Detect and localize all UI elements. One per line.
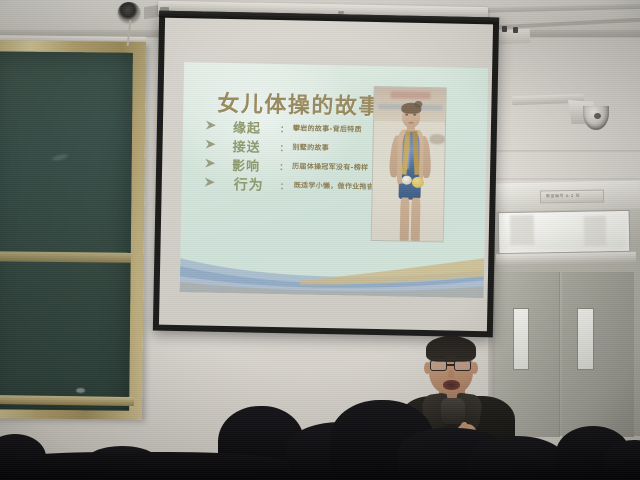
chalkboard-divider bbox=[0, 251, 131, 263]
bracket-bolt bbox=[513, 27, 518, 33]
bullet-key: 接送 bbox=[232, 136, 260, 156]
room-number-plate-text: 教室编号 A-2 班 bbox=[546, 193, 594, 200]
classroom-scene: 教室编号 A-2 班 女儿体操的故事 缘起 bbox=[0, 0, 640, 480]
photo-hair-bun bbox=[414, 101, 422, 108]
door-leaf-right[interactable] bbox=[562, 272, 634, 437]
presenter-eyebrow bbox=[431, 356, 445, 358]
door-vision-panel bbox=[577, 308, 594, 370]
presenter-mouth-open bbox=[443, 380, 460, 390]
chalkboard-surface bbox=[0, 51, 133, 410]
presenter-ear bbox=[471, 362, 478, 374]
window-reflection bbox=[584, 216, 607, 246]
bullet-colon: ： bbox=[280, 179, 289, 192]
wall-seam bbox=[480, 178, 640, 180]
presenter-hair bbox=[426, 336, 476, 362]
projection-screen[interactable]: 女儿体操的故事 缘起 ： 攀岩的故事-背后特质 bbox=[153, 11, 499, 338]
bullet-arrow-icon bbox=[204, 139, 217, 150]
bullet-colon: ： bbox=[279, 160, 288, 173]
bullet-key: 行为 bbox=[234, 174, 264, 195]
presentation-slide[interactable]: 女儿体操的故事 缘起 ： 攀岩的故事-背后特质 bbox=[180, 62, 489, 298]
chalk-piece bbox=[76, 388, 85, 393]
bullet-arrow-icon bbox=[205, 120, 218, 131]
bullet-colon: ： bbox=[280, 122, 289, 135]
bullet-arrow-icon bbox=[204, 177, 217, 188]
bullet-key: 缘起 bbox=[233, 117, 261, 137]
photo-eye bbox=[405, 114, 408, 116]
chalk-tray bbox=[0, 395, 134, 406]
camera-lens-icon bbox=[594, 113, 601, 119]
slide-photo-gymnast bbox=[371, 86, 447, 242]
audience-head bbox=[468, 436, 564, 480]
audience-shoulders bbox=[0, 452, 290, 480]
slide-wave-decoration bbox=[180, 230, 485, 298]
glasses-icon bbox=[430, 360, 447, 371]
wall-seam bbox=[480, 150, 640, 152]
presenter-eyebrow bbox=[456, 356, 470, 358]
slide-title: 女儿体操的故事 bbox=[217, 86, 382, 121]
bullet-colon: ： bbox=[279, 141, 288, 154]
bullet-key: 影响 bbox=[232, 155, 260, 175]
bracket-bolt bbox=[502, 26, 507, 32]
bullet-arrow-icon bbox=[204, 158, 217, 169]
photo-mouth bbox=[408, 122, 414, 124]
photo-background-banner bbox=[391, 91, 431, 99]
window-reflection bbox=[510, 215, 535, 245]
photo-background-object bbox=[430, 134, 446, 144]
presenter-scarf bbox=[441, 398, 465, 424]
bullet-value: 既适学小懒，做作业拖沓 bbox=[294, 180, 374, 192]
bullet-value: 历届体操冠军没有-榜样 bbox=[292, 161, 368, 173]
photo-eye bbox=[413, 114, 416, 116]
screen-surface: 女儿体操的故事 缘起 ： 攀岩的故事-背后特质 bbox=[159, 18, 493, 332]
glasses-icon bbox=[454, 360, 471, 371]
glasses-bridge-icon bbox=[447, 364, 454, 366]
bullet-value: 攀岩的故事-背后特质 bbox=[293, 123, 362, 134]
bullet-value: 别墅的故事 bbox=[292, 142, 329, 153]
presenter-nose bbox=[448, 370, 454, 378]
